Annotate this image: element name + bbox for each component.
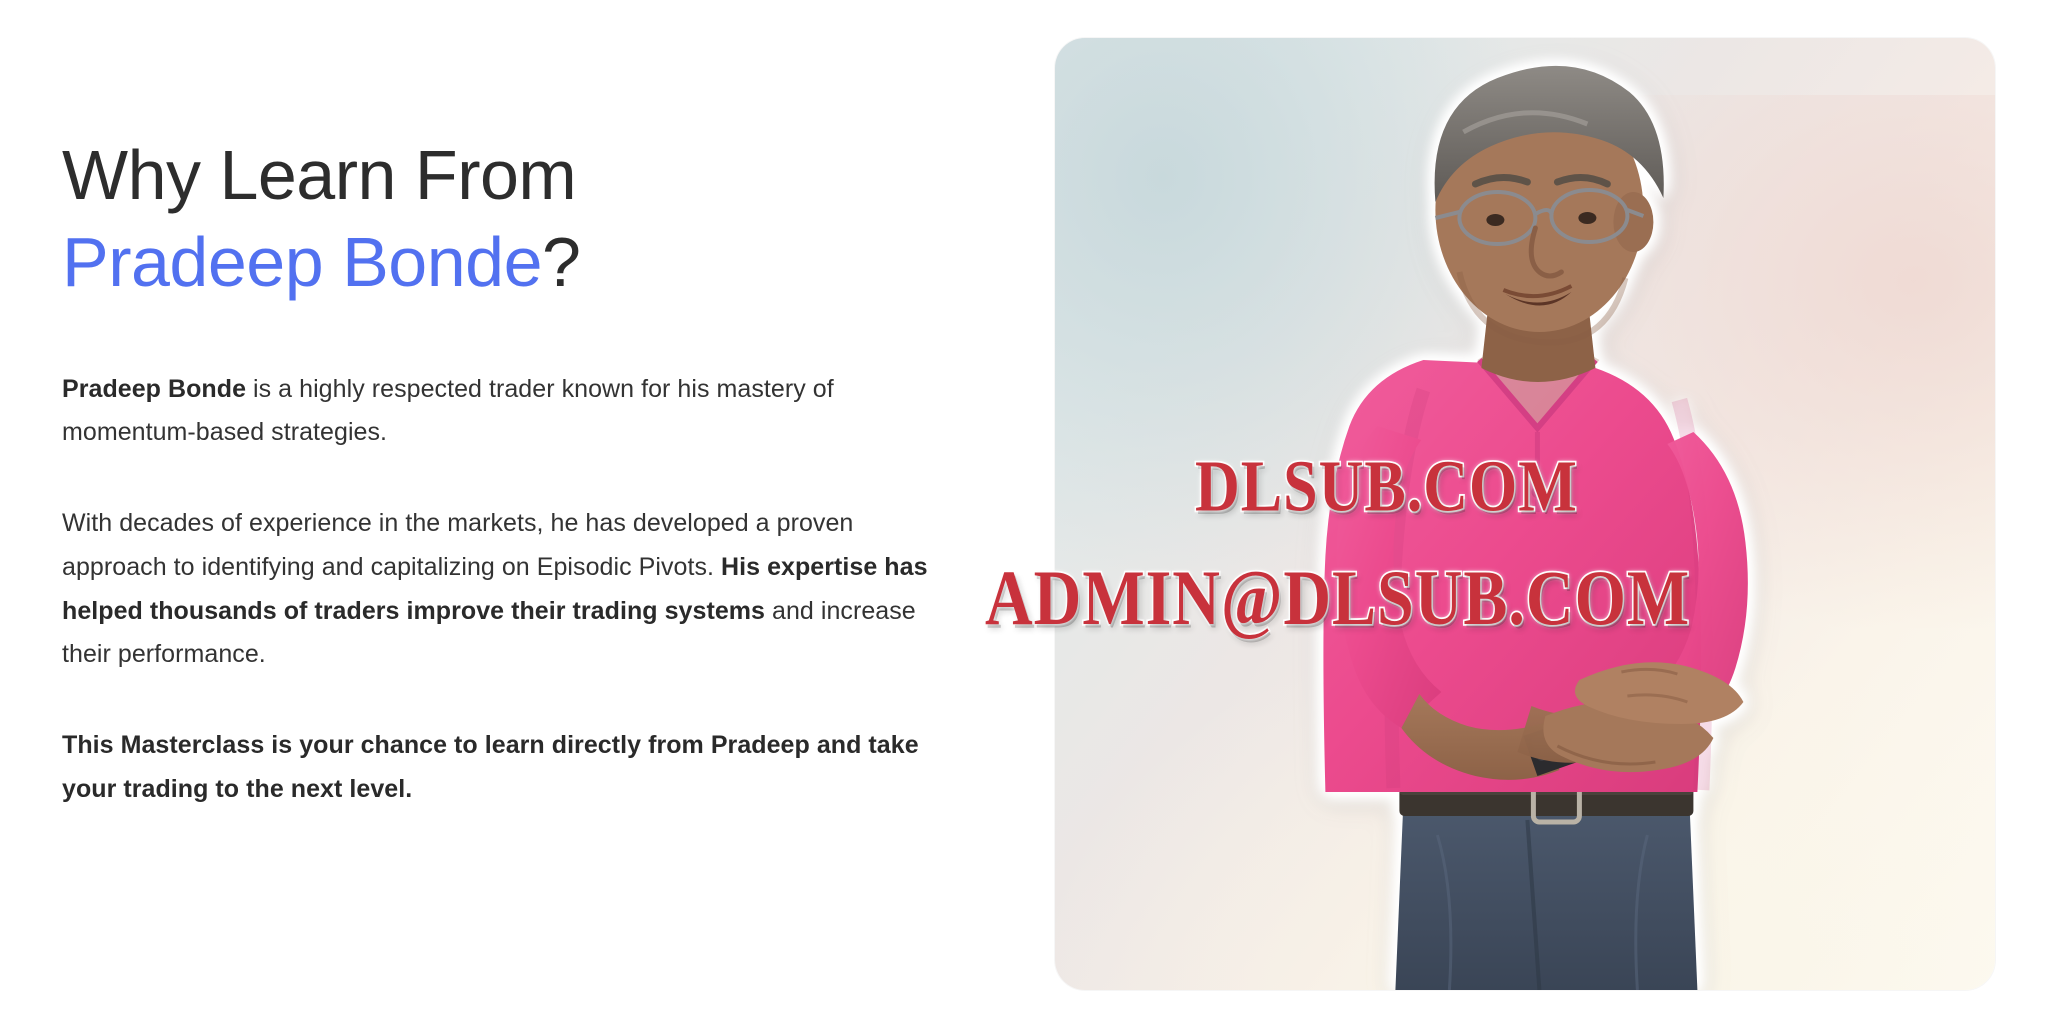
text-column: Why Learn From Pradeep Bonde? Pradeep Bo… [62, 132, 962, 812]
paragraph-cta: This Masterclass is your chance to learn… [62, 724, 952, 812]
headline-accent-name: Pradeep Bonde [62, 223, 542, 301]
watermark-site: DLSUB.COM [1195, 446, 1578, 530]
paragraph-experience: With decades of experience in the market… [62, 502, 952, 677]
slide-root: Why Learn From Pradeep Bonde? Pradeep Bo… [0, 0, 2056, 1016]
headline-line-1: Why Learn From [62, 136, 576, 214]
headline-question-mark: ? [542, 223, 580, 301]
watermark-site-text: DLSUB.COM [1195, 447, 1578, 527]
paragraph-intro: Pradeep Bonde is a highly respected trad… [62, 368, 952, 456]
watermark-email: ADMIN@DLSUB.COM [985, 554, 1690, 644]
body-copy: Pradeep Bonde is a highly respected trad… [62, 368, 952, 812]
paragraph-intro-bold-lead: Pradeep Bonde [62, 375, 246, 403]
watermark-email-text: ADMIN@DLSUB.COM [985, 555, 1690, 641]
page-title: Why Learn From Pradeep Bonde? [62, 132, 962, 306]
